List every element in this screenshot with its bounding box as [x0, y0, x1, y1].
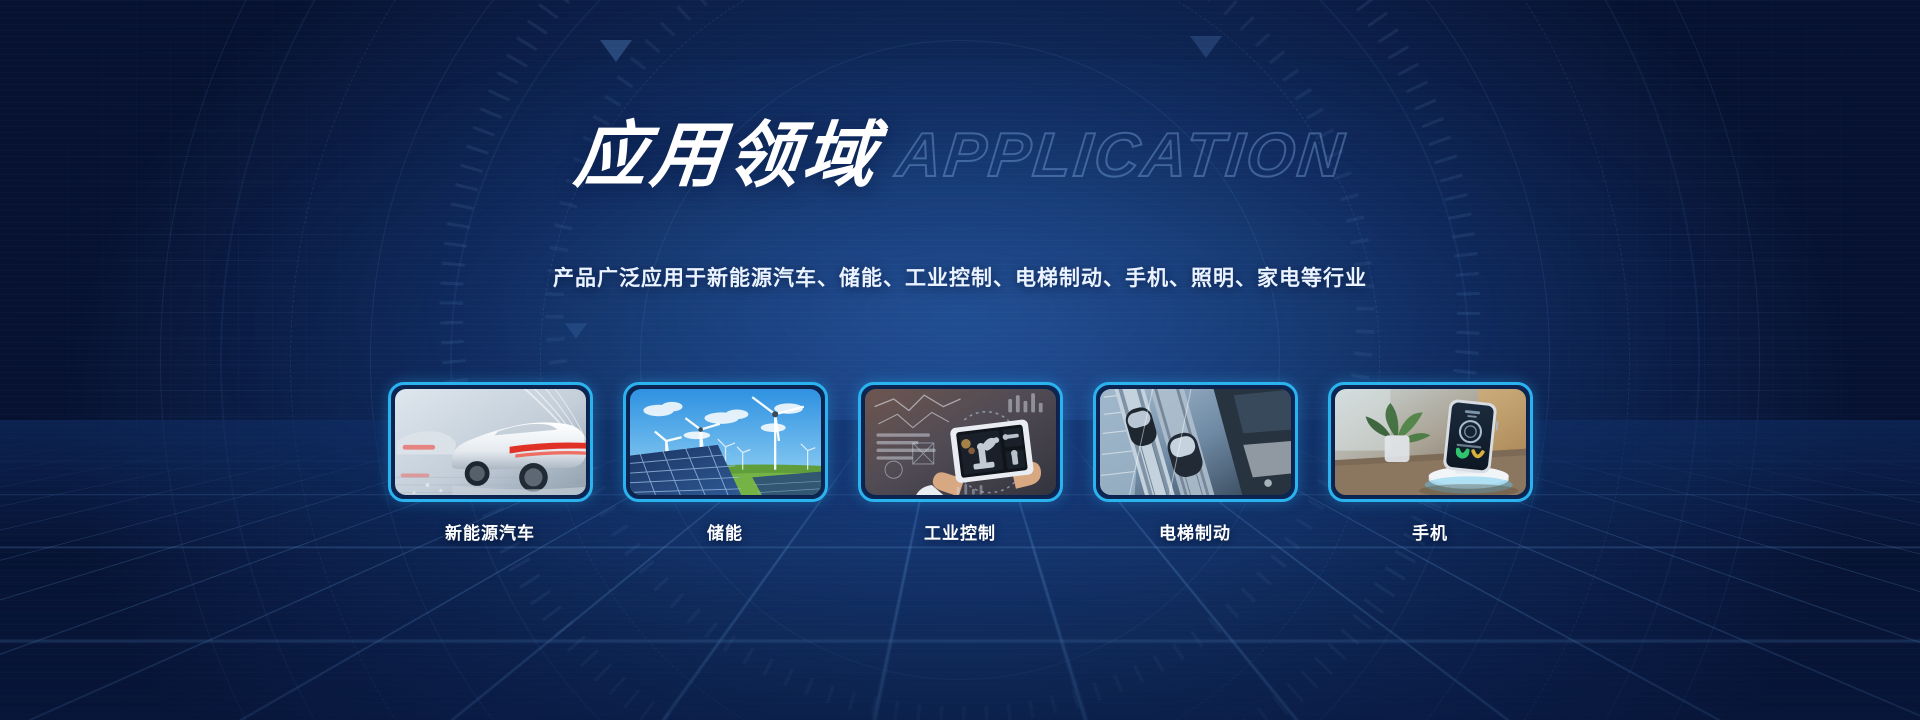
card-frame[interactable] — [858, 382, 1063, 502]
page-title-english: APPLICATION — [893, 125, 1348, 187]
sports-car-photo — [395, 389, 586, 495]
card-frame[interactable] — [1328, 382, 1533, 502]
card-frame[interactable] — [388, 382, 593, 502]
card-frame[interactable] — [623, 382, 828, 502]
application-card[interactable]: 工业控制 — [858, 382, 1063, 544]
application-card-label: 储能 — [623, 519, 828, 544]
smartphone-wireless-charger-photo — [1335, 389, 1526, 495]
application-card-label: 电梯制动 — [1093, 519, 1298, 544]
application-banner: 应用领域 APPLICATION 产品广泛应用于新能源汽车、储能、工业控制、电梯… — [0, 0, 1920, 720]
application-card[interactable]: 储能 — [623, 382, 828, 544]
application-card-label: 工业控制 — [858, 519, 1063, 544]
solar-panels-wind-turbines-photo — [630, 389, 821, 495]
application-card-label: 新能源汽车 — [388, 519, 593, 544]
application-card[interactable]: 新能源汽车 — [388, 382, 593, 544]
application-card-label: 手机 — [1328, 519, 1533, 544]
engineer-tablet-robot-arm-photo — [865, 389, 1056, 495]
application-card-list: 新能源汽车 — [0, 382, 1920, 544]
elevator-shaft-photo — [1100, 389, 1291, 495]
application-card[interactable]: 电梯制动 — [1093, 382, 1298, 544]
card-frame[interactable] — [1093, 382, 1298, 502]
application-card[interactable]: 手机 — [1328, 382, 1533, 544]
page-subtitle: 产品广泛应用于新能源汽车、储能、工业控制、电梯制动、手机、照明、家电等行业 — [0, 262, 1920, 292]
title-row: 应用领域 APPLICATION — [0, 120, 1920, 192]
banner-content: 应用领域 APPLICATION 产品广泛应用于新能源汽车、储能、工业控制、电梯… — [0, 0, 1920, 720]
page-title: 应用领域 — [571, 120, 883, 192]
